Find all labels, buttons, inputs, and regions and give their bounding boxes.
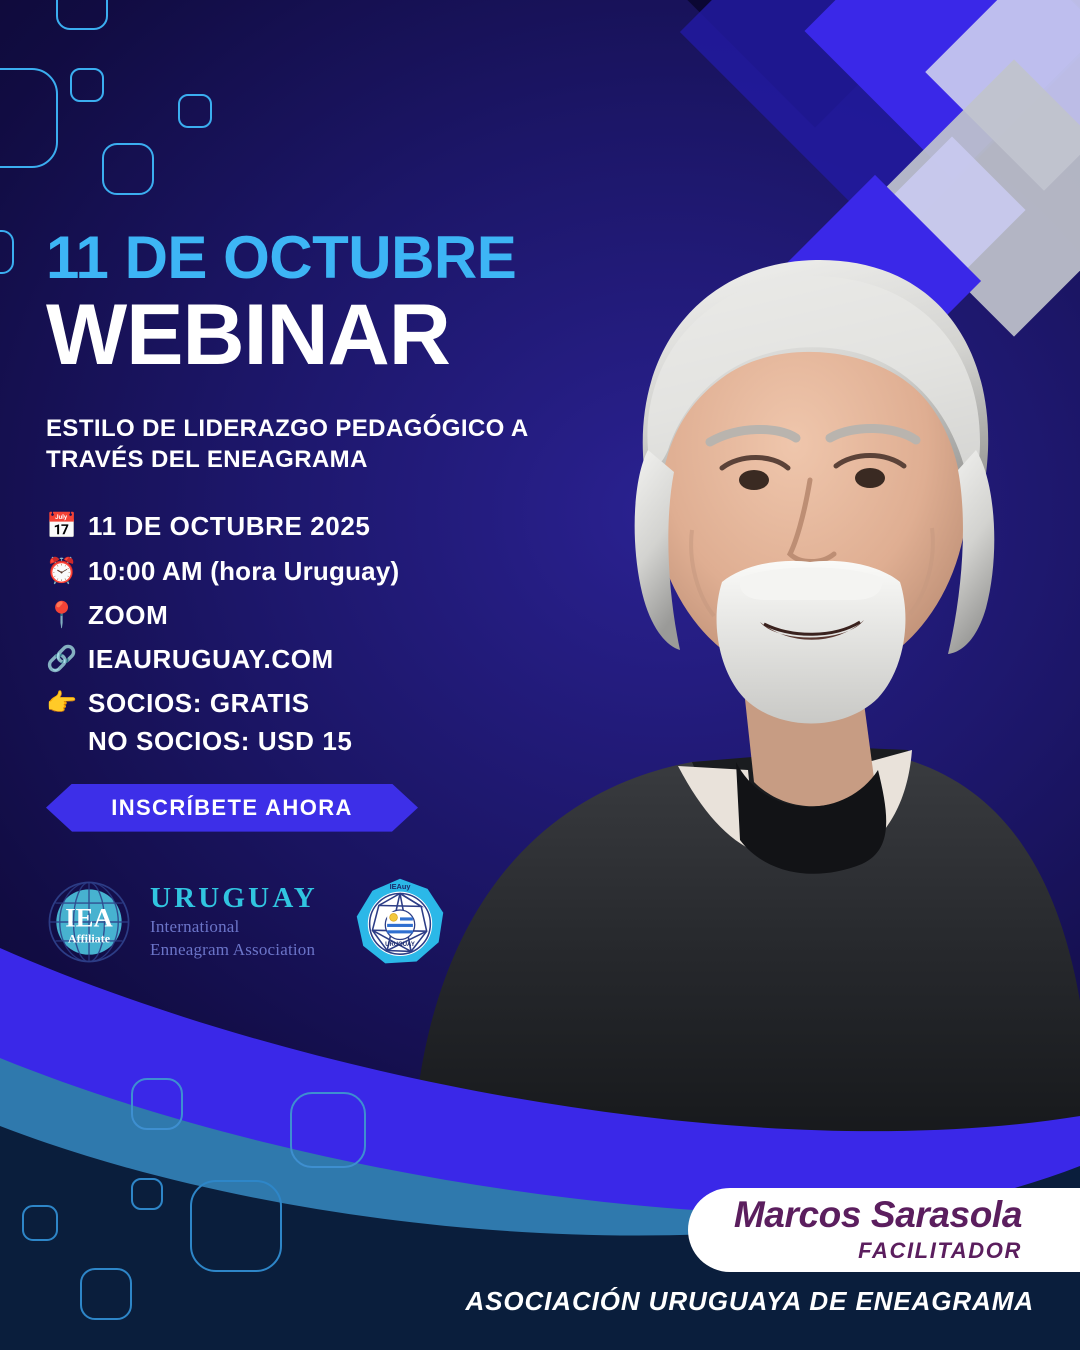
page-title: WEBINAR (46, 292, 666, 378)
detail-date-text: 11 DE OCTUBRE 2025 (88, 511, 370, 542)
badge-top-text: IEAuy (390, 881, 412, 890)
detail-row-website[interactable]: 🔗 IEAURUGUAY.COM (46, 644, 666, 675)
decorative-square-outline-9 (22, 1205, 58, 1241)
alarm-clock-icon: ⏰ (46, 556, 88, 586)
kicker-date: 11 DE OCTUBRE (46, 228, 666, 288)
detail-website-text[interactable]: IEAURUGUAY.COM (88, 644, 334, 675)
link-icon: 🔗 (46, 644, 88, 674)
decorative-square-outline-8 (290, 1092, 366, 1168)
logo-row: IEA Affiliate URUGUAY International Enne… (46, 876, 666, 968)
organization-tagline: ASOCIACIÓN URUGUAYA DE ENEAGRAMA (465, 1286, 1034, 1317)
decorative-square-outline-3 (70, 68, 104, 102)
pricing-members: SOCIOS: GRATIS (88, 688, 310, 718)
iea-name-line-2: Enneagram Association (150, 939, 318, 960)
detail-platform-text: ZOOM (88, 600, 168, 631)
speaker-role: FACILITADOR (858, 1238, 1022, 1264)
decorative-square-outline-12 (190, 1180, 282, 1272)
ieauy-enneagram-badge: IEAuy URUGUAY (354, 876, 446, 968)
decorative-square-outline-1 (0, 68, 58, 168)
iea-globe-logo: IEA Affiliate (46, 879, 132, 965)
detail-row-platform: 📍 ZOOM (46, 600, 666, 631)
detail-row-date: 📅 11 DE OCTUBRE 2025 (46, 511, 666, 542)
iea-mark-text: IEA (65, 902, 113, 932)
webinar-poster: 11 DE OCTUBRE WEBINAR ESTILO DE LIDERAZG… (0, 0, 1080, 1350)
location-pin-icon: 📍 (46, 600, 88, 630)
detail-pricing-text: SOCIOS: GRATIS NO SOCIOS: USD 15 (88, 688, 352, 757)
decorative-square-outline-7 (131, 1078, 183, 1130)
badge-bottom-text: URUGUAY (385, 941, 415, 947)
detail-row-time: ⏰ 10:00 AM (hora Uruguay) (46, 556, 666, 587)
decorative-square-outline-10 (80, 1268, 132, 1320)
register-button[interactable]: INSCRÍBETE AHORA (46, 784, 418, 832)
iea-name-line-1: International (150, 916, 318, 937)
decorative-square-outline-11 (131, 1178, 163, 1210)
detail-time-text: 10:00 AM (hora Uruguay) (88, 556, 399, 587)
calendar-icon: 📅 (46, 511, 88, 541)
register-button-label: INSCRÍBETE AHORA (111, 795, 353, 821)
pointing-hand-icon: 👉 (46, 688, 88, 718)
iea-affiliate-text: Affiliate (68, 931, 111, 945)
decorative-square-outline-2 (56, 0, 108, 30)
detail-row-pricing: 👉 SOCIOS: GRATIS NO SOCIOS: USD 15 (46, 688, 666, 757)
pricing-nonmembers: NO SOCIOS: USD 15 (88, 726, 352, 757)
content-column: 11 DE OCTUBRE WEBINAR ESTILO DE LIDERAZG… (46, 228, 666, 968)
speaker-nameplate: Marcos Sarasola FACILITADOR (688, 1188, 1080, 1272)
speaker-name: Marcos Sarasola (734, 1196, 1022, 1234)
decorative-square-outline-5 (178, 94, 212, 128)
subtitle: ESTILO DE LIDERAZGO PEDAGÓGICO A TRAVÉS … (46, 414, 626, 475)
decorative-square-outline-6 (0, 230, 14, 274)
iea-country-label: URUGUAY (150, 883, 318, 913)
decorative-square-outline-4 (102, 143, 154, 195)
event-details-list: 📅 11 DE OCTUBRE 2025 ⏰ 10:00 AM (hora Ur… (46, 511, 666, 757)
iea-wordmark: URUGUAY International Enneagram Associat… (150, 883, 318, 960)
